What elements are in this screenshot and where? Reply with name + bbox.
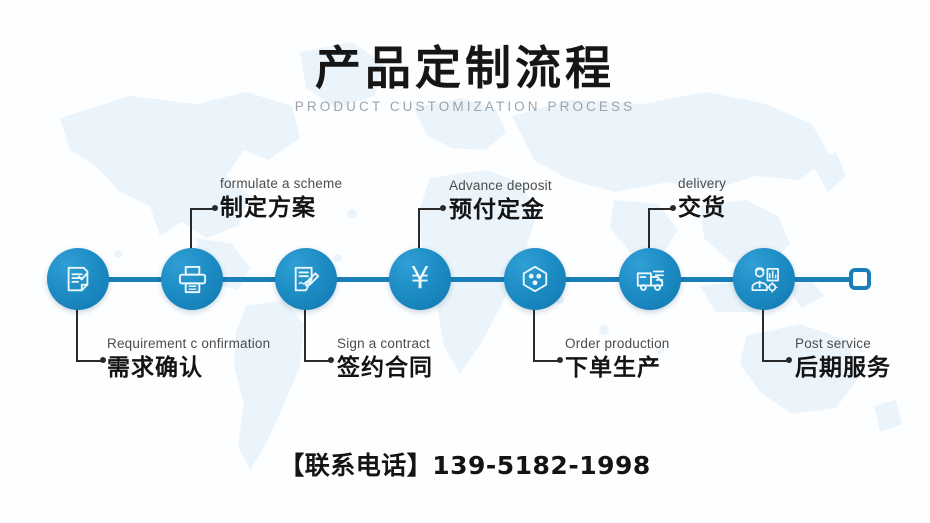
- step-label-1: Requirement c onfirmation 需求确认: [107, 336, 270, 383]
- step-label-4-cn: 预付定金: [449, 196, 552, 225]
- step-label-3: Sign a contract 签约合同: [337, 336, 433, 383]
- step-label-7: Post service 后期服务: [795, 336, 891, 383]
- delivery-truck-icon: [634, 263, 666, 295]
- step-node-3[interactable]: [275, 248, 337, 310]
- step-label-1-cn: 需求确认: [107, 354, 270, 383]
- header: 产品定制流程 PRODUCT CUSTOMIZATION PROCESS: [0, 44, 930, 114]
- step-label-3-cn: 签约合同: [337, 354, 433, 383]
- step-label-5: Order production 下单生产: [565, 336, 670, 383]
- support-agent-icon: [749, 264, 780, 295]
- step-label-6-en: delivery: [678, 176, 726, 193]
- step-node-1[interactable]: [47, 248, 109, 310]
- step-label-4: Advance deposit 预付定金: [449, 178, 552, 225]
- blueprint-printer-icon: [177, 264, 208, 295]
- step-label-6: delivery 交货: [678, 176, 726, 223]
- infographic-canvas: 产品定制流程 PRODUCT CUSTOMIZATION PROCESS: [0, 0, 930, 523]
- hexagon-production-icon: [520, 264, 550, 294]
- step-label-1-en: Requirement c onfirmation: [107, 336, 270, 353]
- step-label-3-en: Sign a contract: [337, 336, 433, 353]
- step-label-2-cn: 制定方案: [220, 194, 342, 223]
- step-label-2-en: formulate a scheme: [220, 176, 342, 193]
- contact-phone: 【联系电话】139-5182-1998: [0, 446, 930, 482]
- step-label-4-en: Advance deposit: [449, 178, 552, 195]
- document-check-icon: [63, 264, 93, 294]
- step-label-5-cn: 下单生产: [565, 354, 670, 383]
- step-node-2[interactable]: [161, 248, 223, 310]
- yen-currency-icon: ¥: [410, 264, 429, 294]
- page-subtitle: PRODUCT CUSTOMIZATION PROCESS: [0, 99, 930, 114]
- contract-signature-icon: [291, 264, 321, 294]
- page-title: 产品定制流程: [0, 44, 930, 94]
- step-node-5[interactable]: [504, 248, 566, 310]
- step-label-7-cn: 后期服务: [795, 354, 891, 383]
- step-label-6-cn: 交货: [678, 194, 726, 223]
- step-node-7[interactable]: [733, 248, 795, 310]
- step-label-5-en: Order production: [565, 336, 670, 353]
- step-label-7-en: Post service: [795, 336, 891, 353]
- rail-end-marker-icon: [849, 268, 871, 290]
- step-node-6[interactable]: [619, 248, 681, 310]
- step-node-4[interactable]: ¥: [389, 248, 451, 310]
- step-label-2: formulate a scheme 制定方案: [220, 176, 342, 223]
